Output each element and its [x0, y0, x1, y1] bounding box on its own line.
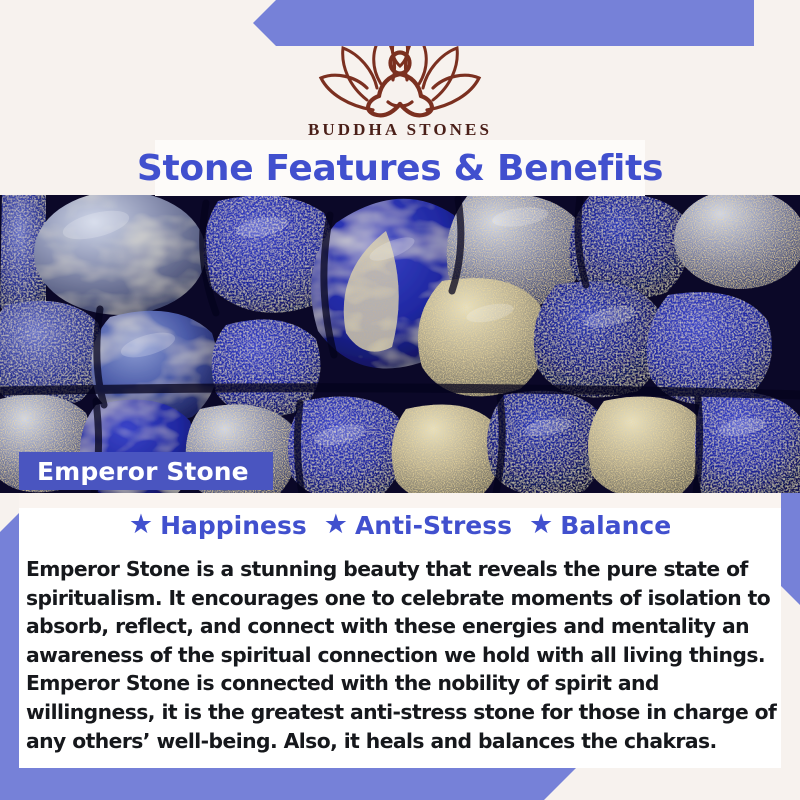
page-title: Stone Features & Benefits — [137, 148, 663, 189]
star-icon: ★ — [529, 511, 553, 538]
decorative-corner-top-right — [230, 0, 800, 46]
benefits-row: ★ Happiness ★ Anti-Stress ★ Balance — [19, 511, 781, 540]
brand-name: BUDDHA STONES — [0, 120, 800, 140]
description-paragraph-2: Emperor Stone is connected with the nobi… — [26, 669, 778, 755]
benefit-item: ★ Balance — [529, 511, 671, 540]
benefit-item: ★ Happiness — [129, 511, 307, 540]
description-paragraph-1: Emperor Stone is a stunning beauty that … — [26, 555, 778, 669]
panel-top-strip — [19, 493, 781, 508]
stone-name-badge: Emperor Stone — [19, 452, 273, 490]
description-text: Emperor Stone is a stunning beauty that … — [26, 555, 778, 755]
star-icon: ★ — [324, 511, 348, 538]
stone-photo — [0, 195, 800, 493]
infographic-card: BUDDHA STONES Stone Features & Benefits — [0, 0, 800, 800]
stone-name-label: Emperor Stone — [37, 457, 249, 486]
benefit-label: Happiness — [160, 511, 307, 540]
benefit-item: ★ Anti-Stress — [324, 511, 512, 540]
benefit-label: Balance — [560, 511, 671, 540]
title-banner: Stone Features & Benefits — [155, 140, 645, 196]
content-panel: ★ Happiness ★ Anti-Stress ★ Balance Empe… — [19, 493, 781, 768]
star-icon: ★ — [129, 511, 153, 538]
stone-photo-graphic — [0, 195, 800, 493]
benefit-label: Anti-Stress — [355, 511, 512, 540]
